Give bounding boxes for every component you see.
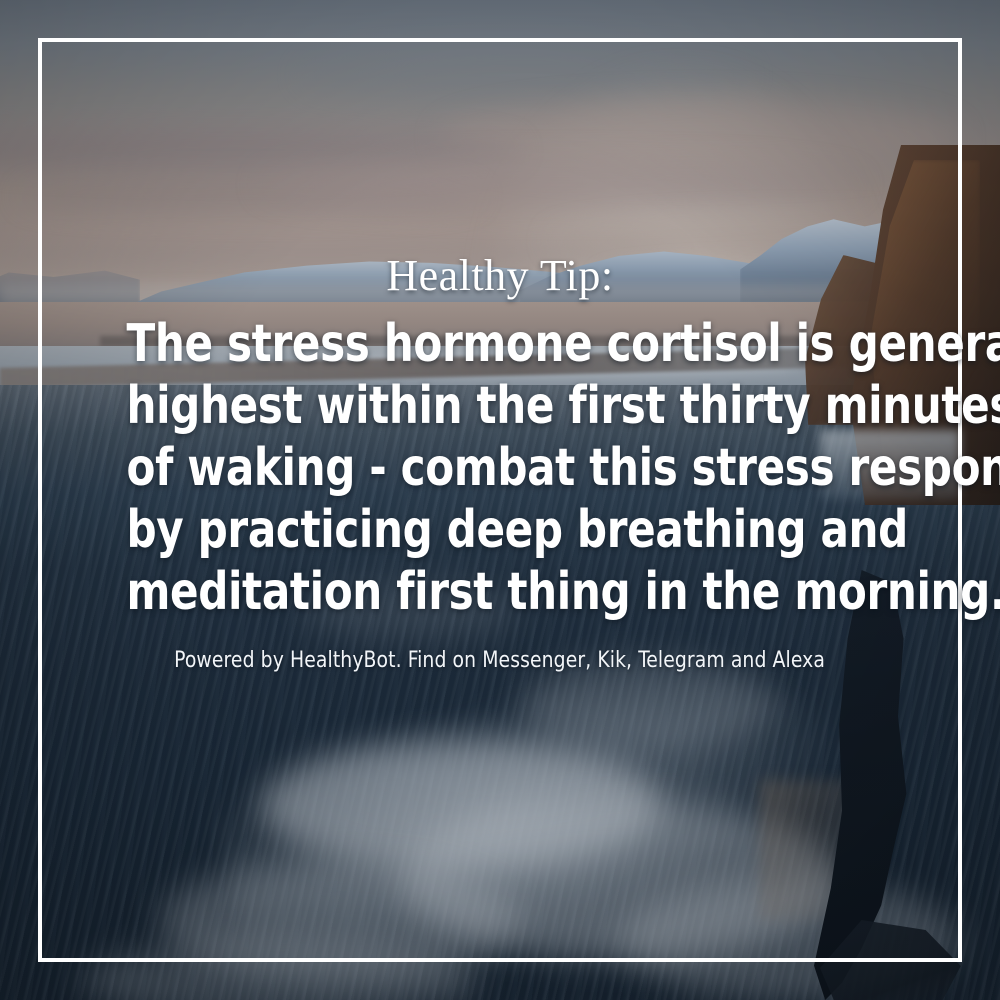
- healthy-tip-card: Healthy Tip: The stress hormone cortisol…: [0, 0, 1000, 1000]
- quote-text: The stress hormone cortisol is generally…: [127, 313, 874, 623]
- quote-line: by practicing deep breathing and: [127, 499, 874, 561]
- quote-line: The stress hormone cortisol is generally: [127, 313, 874, 375]
- quote-line: of waking - combat this stress response: [127, 437, 874, 499]
- quote-line: meditation first thing in the morning.: [127, 561, 874, 623]
- attribution-footer: Powered by HealthyBot. Find on Messenger…: [175, 647, 826, 675]
- page-title: Healthy Tip:: [386, 253, 613, 299]
- card-content: Healthy Tip: The stress hormone cortisol…: [0, 0, 1000, 1000]
- quote-line: highest within the first thirty minutes: [127, 375, 874, 437]
